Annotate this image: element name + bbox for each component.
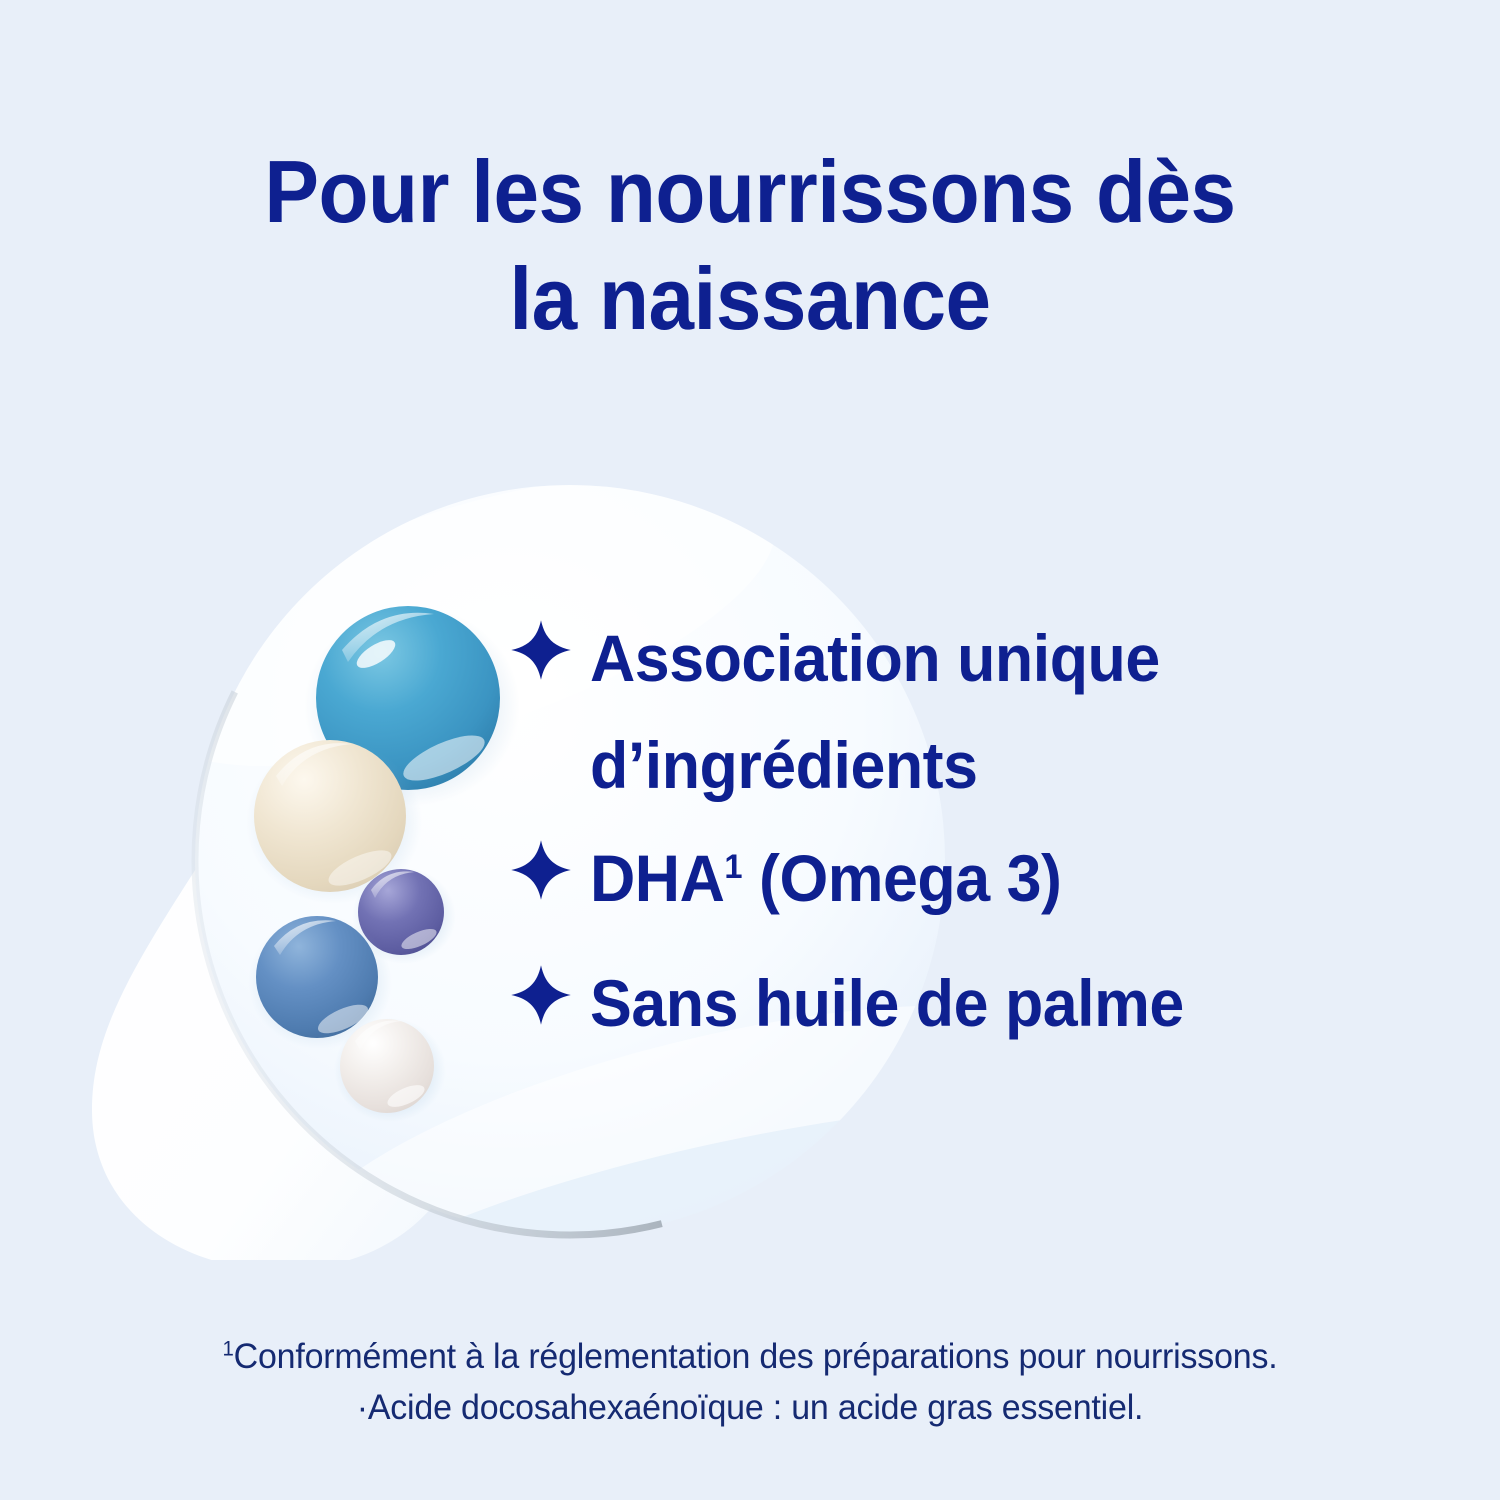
sparkle-star-icon (510, 839, 572, 901)
page-title: Pour les nourrissons dès la naissance (53, 138, 1448, 353)
sparkle-star-icon (510, 619, 572, 681)
list-item: Sans huile de palme (510, 950, 1450, 1057)
feature-label-2-superscript: 1 (724, 848, 742, 886)
sparkle-star-icon (510, 964, 572, 1026)
feature-label-2-suffix: (Omega 3) (742, 841, 1061, 915)
bead-pearl-white (334, 1018, 446, 1122)
feature-label-2: DHA1 (Omega 3) (590, 825, 1061, 932)
footnote: 1Conformément à la réglementation des pr… (23, 1332, 1478, 1434)
footnote-marker: 1 (223, 1337, 234, 1360)
page-title-line-2: la naissance (53, 245, 1448, 352)
page-title-line-1: Pour les nourrissons dès (53, 138, 1448, 245)
footnote-line-2: ·Acide docosahexaénoïque : un acide gras… (23, 1383, 1478, 1434)
feature-label-3: Sans huile de palme (590, 950, 1184, 1057)
feature-list: Association unique d’ingrédients DHA1 (O… (510, 605, 1450, 1075)
feature-label-2-main: DHA (590, 841, 724, 915)
footnote-line-1: 1Conformément à la réglementation des pr… (23, 1332, 1478, 1383)
footnote-line-1-text: Conformément à la réglementation des pré… (234, 1337, 1278, 1376)
promo-card: Pour les nourrissons dès la naissance (0, 0, 1500, 1500)
list-item: Association unique d’ingrédients (510, 605, 1450, 819)
feature-label-1: Association unique d’ingrédients (590, 605, 1160, 819)
list-item: DHA1 (Omega 3) (510, 825, 1450, 932)
